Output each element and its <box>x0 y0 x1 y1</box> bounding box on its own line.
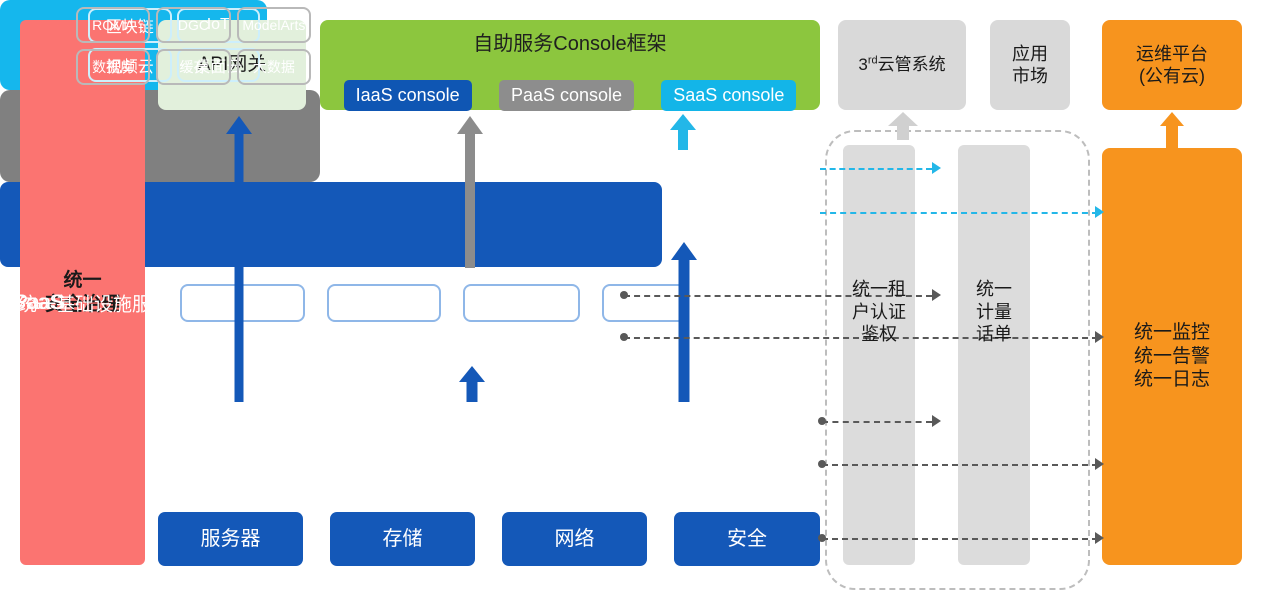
paas-service-dgc[interactable]: DGC <box>156 7 230 43</box>
paas-service-cache[interactable]: 缓存 <box>156 49 230 85</box>
ops-platform-public-cloud-label: 运维平台(公有云) <box>1136 43 1208 88</box>
app-market-label: 应用市场 <box>1012 43 1048 88</box>
paas-service-bigdata[interactable]: 大数据 <box>237 49 311 85</box>
arrow-iaas-to-paas <box>459 366 485 402</box>
arrow-zone-to-third-party-cloud <box>890 112 916 140</box>
third-party-cloud-mgmt-box: 3rd云管系统 <box>838 20 966 110</box>
paas-service-modelarts[interactable]: ModelArts <box>237 7 311 43</box>
hardware-storage-box[interactable]: 存储 <box>330 512 475 566</box>
paas-console-pill[interactable]: PaaS console <box>499 80 634 111</box>
unified-metering-label: 统一计量话单 <box>958 278 1030 346</box>
paas-service-grid: ROMA DGC ModelArts 数据库 缓存 大数据 <box>76 7 311 85</box>
saas-console-pill[interactable]: SaaS console <box>661 80 796 111</box>
connector-hardware-to-ops-panel <box>822 538 1098 540</box>
hardware-network-box[interactable]: 网络 <box>502 512 647 566</box>
connector-paas-to-ops-panel-arrowhead <box>1095 331 1104 343</box>
hardware-security-box[interactable]: 安全 <box>674 512 820 566</box>
paas-service-roma[interactable]: ROMA <box>76 7 150 43</box>
connector-saas-to-ops-panel <box>820 212 1098 214</box>
arrow-saas-to-console <box>670 114 696 150</box>
arrow-ops-panel-to-ops-platform <box>1160 112 1184 150</box>
unified-tenant-auth-column <box>843 145 915 565</box>
connector-iaas-to-auth <box>822 421 932 423</box>
connector-saas-to-auth <box>820 168 932 170</box>
hardware-server-box[interactable]: 服务器 <box>158 512 303 566</box>
unified-monitoring-panel: 统一监控统一告警统一日志 <box>1102 148 1242 565</box>
arrow-iaas-to-api-gateway <box>226 116 252 402</box>
unified-monitoring-label: 统一监控统一告警统一日志 <box>1134 321 1210 392</box>
console-framework-box: 自助服务Console框架 IaaS console PaaS console … <box>320 20 820 110</box>
iaas-layer-label: 统一基础设施服务 <box>18 289 170 316</box>
connector-saas-to-ops-panel-arrowhead <box>1095 206 1104 218</box>
architecture-diagram: 统一安全治理 API网关 自助服务Console框架 IaaS console … <box>0 0 1265 605</box>
iaas-service-group: Compute Storage Network CCE <box>180 284 686 322</box>
iaas-console-pill[interactable]: IaaS console <box>344 80 472 111</box>
paas-service-database[interactable]: 数据库 <box>76 49 150 85</box>
arrow-paas-to-console <box>457 116 483 268</box>
connector-hardware-to-ops-panel-arrowhead <box>1095 532 1104 544</box>
app-market-box: 应用市场 <box>990 20 1070 110</box>
connector-saas-to-auth-arrowhead <box>932 162 941 174</box>
connector-iaas-to-ops-panel-arrowhead <box>1095 458 1104 470</box>
iaas-service-storage[interactable]: Storage <box>327 284 441 322</box>
console-pill-group: IaaS console PaaS console SaaS console <box>320 80 820 111</box>
console-framework-title: 自助服务Console框架 <box>320 28 820 60</box>
connector-iaas-to-auth-arrowhead <box>932 415 941 427</box>
iaas-service-network[interactable]: Network <box>463 284 580 322</box>
unified-metering-column <box>958 145 1030 565</box>
connector-iaas-to-ops-panel <box>822 464 1098 466</box>
unified-tenant-auth-label: 统一租户认证鉴权 <box>843 278 915 346</box>
third-party-cloud-mgmt-label: 3rd云管系统 <box>858 54 945 75</box>
connector-paas-to-auth-arrowhead <box>932 289 941 301</box>
arrow-iaas-to-saas <box>671 242 697 402</box>
ops-platform-public-cloud-box: 运维平台(公有云) <box>1102 20 1242 110</box>
